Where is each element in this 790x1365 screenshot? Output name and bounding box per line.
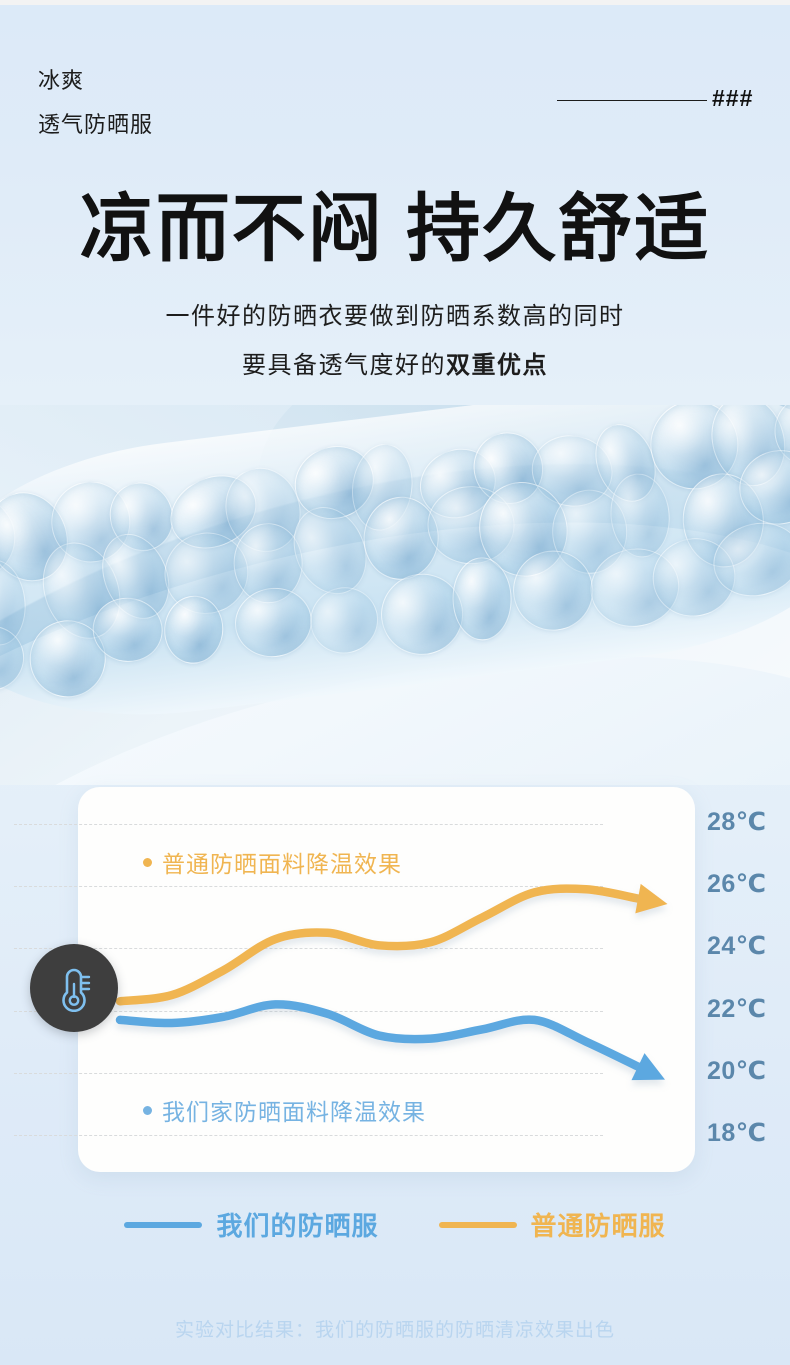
legend-swatch-normal [439, 1222, 517, 1228]
chart-line-normal [120, 889, 638, 1002]
bullet-dot-icon [143, 1106, 152, 1115]
bullet-dot-icon [143, 858, 152, 867]
horizontal-rule-icon [557, 100, 707, 101]
subtitle-line-2-normal: 要具备透气度好的 [242, 352, 446, 379]
temp-tick-20: 20℃ [707, 1056, 767, 1086]
brand-line-2: 透气防晒服 [38, 107, 153, 139]
chart-line-ours [120, 1004, 638, 1066]
legend-label-ours: 我们的防晒服 [216, 1206, 378, 1243]
temp-tick-26: 26℃ [707, 869, 767, 899]
chart-inline-label-ours: 我们家防晒面料降温效果 [143, 1093, 426, 1127]
legend-item-normal: 普通防晒服 [439, 1206, 666, 1243]
temp-tick-18: 18℃ [707, 1118, 767, 1148]
subtitle-line-2: 要具备透气度好的双重优点 [0, 345, 790, 380]
chart-legend: 我们的防晒服 普通防晒服 [0, 1206, 790, 1243]
chart-inline-label-ours-text: 我们家防晒面料降温效果 [162, 1093, 426, 1127]
thermometer-badge [30, 944, 118, 1032]
thermometer-icon [54, 964, 94, 1012]
brand-line-1: 冰爽 [38, 63, 84, 95]
chart-arrow-normal-icon [635, 884, 667, 914]
chart-inline-label-normal: 普通防晒面料降温效果 [143, 845, 402, 879]
temp-tick-28: 28℃ [707, 807, 767, 837]
subtitle-line-1: 一件好的防晒衣要做到防晒系数高的同时 [0, 296, 790, 331]
legend-label-normal: 普通防晒服 [531, 1206, 666, 1243]
page-title: 凉而不闷 持久舒适 [0, 190, 790, 268]
chart-inline-label-normal-text: 普通防晒面料降温效果 [162, 845, 402, 879]
temp-tick-22: 22℃ [707, 994, 767, 1024]
temp-tick-24: 24℃ [707, 931, 767, 961]
hash-marks: ### [712, 85, 753, 112]
footer-note: 实验对比结果：我们的防晒服的防晒清凉效果出色 [0, 1315, 790, 1342]
page-header: 冰爽 透气防晒服 ### [0, 55, 790, 155]
subtitle-line-2-strong: 双重优点 [446, 352, 548, 379]
top-strip [0, 0, 790, 5]
hero-image [0, 405, 790, 785]
legend-swatch-ours [124, 1222, 202, 1228]
legend-item-ours: 我们的防晒服 [124, 1206, 378, 1243]
product-detail-page: 冰爽 透气防晒服 ### 凉而不闷 持久舒适 一件好的防晒衣要做到防晒系数高的同… [0, 0, 790, 1365]
